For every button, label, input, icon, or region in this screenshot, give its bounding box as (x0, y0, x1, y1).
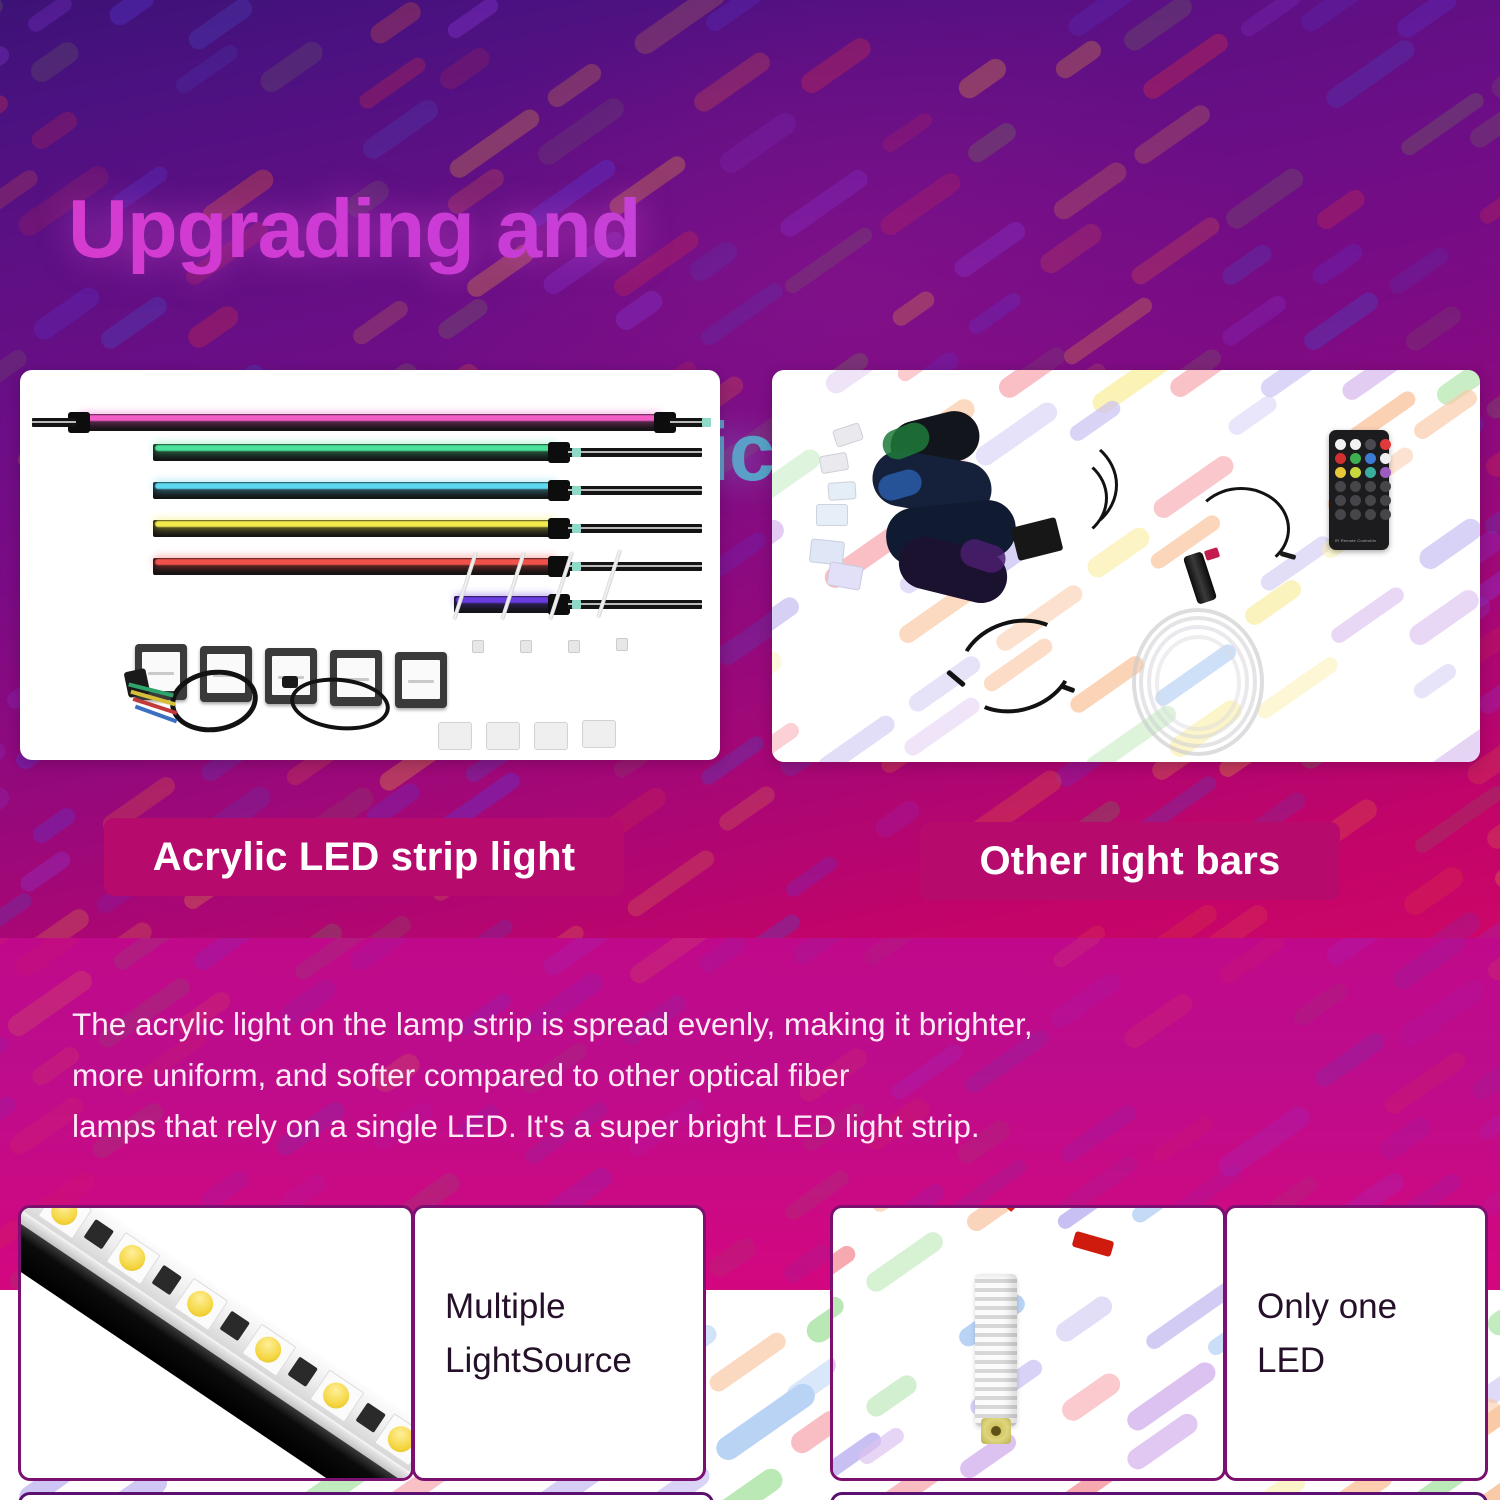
decorative-dash (624, 847, 717, 919)
decorative-dash (1485, 938, 1500, 984)
decorative-dash (0, 783, 14, 857)
decorative-dash (1123, 1358, 1219, 1434)
decorative-dash (1204, 901, 1271, 938)
remote-button[interactable] (1380, 509, 1391, 520)
decorative-dash (445, 0, 502, 41)
decorative-dash (780, 1241, 833, 1286)
decorative-dash (367, 0, 425, 47)
decorative-dash (862, 1372, 920, 1421)
remote-button[interactable] (1380, 481, 1391, 492)
decorative-dash (856, 1425, 907, 1467)
label-other-light-bars: Other light bars (920, 822, 1340, 900)
only-one-led-label-card: Only one LED (1224, 1205, 1488, 1481)
led-strip-macro (18, 1205, 414, 1481)
decorative-dash (0, 43, 13, 105)
decorative-dash (872, 797, 924, 841)
strip-yellow (153, 520, 559, 537)
cable-connector (282, 676, 298, 688)
decorative-dash (29, 805, 78, 846)
plug-cyan (548, 480, 570, 501)
decorative-dash (436, 917, 515, 938)
decorative-dash (706, 1329, 789, 1395)
decorative-dash (1051, 938, 1104, 970)
decorative-dash (1482, 420, 1500, 481)
decorative-dash (772, 516, 788, 571)
decorative-dash (830, 1429, 885, 1481)
remote-button[interactable] (1335, 509, 1346, 520)
decorative-dash (868, 1205, 917, 1216)
decorative-dash (1143, 1278, 1226, 1352)
decorative-dash (1469, 1034, 1500, 1103)
decorative-dash (105, 0, 158, 29)
multiple-lightsource-label: Multiple LightSource (445, 1280, 693, 1389)
plugtip-green (572, 448, 581, 457)
decorative-dash (1050, 922, 1109, 938)
decorative-dash (901, 694, 983, 759)
decorative-dash (1088, 370, 1186, 417)
decorative-dash (1137, 901, 1221, 938)
plugtip-cyan (572, 486, 581, 495)
product-infographic: Upgrading and Innovation-Acrylic strip l… (0, 0, 1500, 1500)
remote-button-grid[interactable] (1335, 439, 1391, 520)
remote-caption: IR Remote Controller (1335, 538, 1377, 543)
decorative-dash (772, 647, 786, 704)
decorative-dash (1412, 783, 1500, 856)
decorative-dash (1083, 523, 1154, 581)
remote-button[interactable] (1365, 467, 1376, 478)
decorative-dash (822, 370, 912, 398)
remote-button[interactable] (1350, 509, 1361, 520)
decorative-dash (1482, 778, 1500, 853)
decorative-dash (1398, 89, 1487, 158)
remote-button[interactable] (1380, 467, 1391, 478)
decorative-dash (1297, 0, 1373, 34)
decorative-dash (1121, 0, 1197, 55)
decorative-dash (0, 0, 6, 51)
tail-green (568, 448, 702, 457)
remote-button[interactable] (1335, 481, 1346, 492)
decorative-dash (25, 0, 75, 35)
strip-red (153, 558, 559, 575)
decorative-dash (1123, 1410, 1202, 1474)
decorative-dash (1483, 354, 1500, 422)
strip-green (153, 444, 559, 461)
decorative-dash (1417, 715, 1480, 762)
decorative-dash (1217, 938, 1287, 986)
decorative-dash (695, 938, 750, 977)
remote-button[interactable] (1380, 453, 1391, 464)
decorative-dash (1403, 303, 1466, 355)
decorative-dash (11, 938, 82, 981)
decorative-dash (1166, 370, 1251, 401)
hero-section: Upgrading and Innovation-Acrylic strip l… (0, 0, 1500, 938)
decorative-dash (630, 0, 729, 58)
decorative-dash (1476, 1101, 1500, 1143)
decorative-dash (0, 92, 11, 155)
decorative-dash (772, 719, 802, 762)
remote-button[interactable] (1365, 509, 1376, 520)
decorative-dash (17, 906, 92, 938)
decorative-dash (1466, 918, 1500, 938)
decorative-dash (1411, 660, 1460, 701)
decorative-dash (190, 938, 286, 973)
next-row-card-left (18, 1492, 714, 1500)
decorative-dash (772, 594, 803, 646)
decorative-dash (1400, 862, 1468, 918)
decorative-dash (91, 919, 156, 938)
decorative-dash (895, 370, 951, 384)
remote-button[interactable] (1350, 495, 1361, 506)
decorative-dash (0, 416, 3, 466)
label-text: Acrylic LED strip light (153, 835, 575, 880)
decorative-dash (1391, 909, 1484, 938)
plug-yellow (548, 518, 570, 539)
decorative-dash (17, 848, 74, 895)
decorative-dash (790, 938, 861, 967)
decorative-dash (111, 938, 189, 973)
decorative-dash (1415, 515, 1480, 574)
decorative-dash (536, 923, 586, 938)
decorative-dash (830, 1293, 847, 1354)
decorative-dash (995, 370, 1069, 402)
decorative-dash (1477, 180, 1500, 228)
decorative-dash (707, 912, 802, 938)
single-led-module-photo (830, 1205, 1226, 1481)
decorative-dash (273, 920, 346, 938)
decorative-dash (1328, 583, 1407, 645)
decorative-dash (0, 1033, 12, 1099)
remote-button[interactable] (1380, 439, 1391, 450)
fiber-optic-coil (1132, 608, 1264, 756)
decorative-dash (0, 1094, 19, 1152)
decorative-dash (0, 938, 15, 993)
next-row-card-right (830, 1492, 1488, 1500)
remote-button[interactable] (1350, 481, 1361, 492)
decorative-dash (0, 1154, 5, 1220)
label-acrylic-led-strip-light: Acrylic LED strip light (104, 818, 624, 896)
decorative-dash (1495, 985, 1500, 1043)
acrylic-led-strip-light-photo (20, 370, 720, 760)
decorative-dash (830, 1350, 840, 1408)
remote-button[interactable] (1365, 495, 1376, 506)
plug-green (548, 442, 570, 463)
decorative-dash (783, 853, 841, 900)
decorative-dash (703, 0, 765, 34)
decorative-dash (1405, 586, 1480, 649)
decorative-dash (1433, 370, 1480, 408)
remote-button[interactable] (1380, 495, 1391, 506)
multiple-lightsource-label-card: Multiple LightSource (412, 1205, 706, 1481)
only-one-led-label: Only one LED (1257, 1280, 1475, 1389)
remote-button[interactable] (1350, 439, 1361, 450)
decorative-dash (815, 712, 898, 762)
decorative-dash (1057, 1369, 1124, 1425)
plugtip-yellow (572, 524, 581, 533)
decorative-dash (1323, 938, 1397, 969)
decorative-dash (1254, 654, 1341, 722)
tail-red (568, 562, 702, 571)
tail-pink-left (32, 418, 76, 427)
other-light-bars-photo: IR Remote Controller (772, 370, 1480, 762)
decorative-dash (861, 938, 933, 968)
decorative-dash (830, 1242, 859, 1308)
decorative-dash (1257, 370, 1318, 401)
plugtip-red (572, 562, 581, 571)
decorative-dash (540, 938, 637, 980)
decorative-dash (1064, 0, 1158, 40)
decorative-dash (0, 167, 41, 238)
decorative-dash (1225, 393, 1280, 438)
decorative-dash (1339, 370, 1425, 403)
decorative-dash (184, 0, 256, 53)
tail-purple (568, 600, 702, 609)
strip-cyan (153, 482, 559, 499)
remote-button[interactable] (1335, 439, 1346, 450)
decorative-dash (1492, 845, 1500, 892)
decorative-dash (1488, 57, 1500, 102)
decorative-dash (830, 1205, 842, 1239)
label-text: Other light bars (979, 839, 1280, 884)
page-title-line-1: Upgrading and (68, 173, 1398, 284)
decorative-dash (1466, 104, 1500, 150)
plugtip-pink (702, 418, 711, 427)
decorative-dash (347, 938, 419, 974)
remote-button[interactable] (1365, 453, 1376, 464)
decorative-dash (1411, 387, 1480, 442)
remote-button[interactable] (1335, 467, 1346, 478)
tail-pink-right (670, 418, 706, 427)
description-text: The acrylic light on the lamp strip is s… (72, 999, 1412, 1152)
remote-button[interactable] (1365, 439, 1376, 450)
remote-button[interactable] (1350, 467, 1361, 478)
tail-yellow (568, 524, 702, 533)
decorative-dash (1482, 490, 1500, 538)
remote-button[interactable] (1335, 495, 1346, 506)
decorative-dash (626, 938, 725, 987)
decorative-dash (705, 1234, 760, 1281)
decorative-dash (292, 938, 387, 983)
strip-pink (68, 414, 676, 431)
decorative-dash (0, 738, 9, 794)
decorative-dash (862, 1228, 946, 1295)
remote-button[interactable] (1335, 453, 1346, 464)
decorative-dash (1393, 0, 1460, 41)
connector-box (395, 652, 447, 708)
decorative-dash (1205, 1292, 1226, 1358)
remote-button[interactable] (1365, 481, 1376, 492)
fiber-optic-harness-bundle (842, 412, 1092, 612)
decorative-dash (0, 890, 36, 938)
decorative-dash (0, 1290, 9, 1328)
remote-button[interactable] (1350, 453, 1361, 464)
decorative-dash (1237, 0, 1303, 39)
decorative-dash (345, 913, 415, 938)
ir-remote-control[interactable]: IR Remote Controller (1329, 430, 1389, 550)
decorative-dash (715, 783, 777, 834)
decorative-dash (1390, 938, 1469, 993)
multi-led-strip-macro-photo (18, 1205, 414, 1481)
tail-cyan (568, 486, 702, 495)
plugtip-purple (572, 600, 581, 609)
decorative-dash (712, 1379, 820, 1464)
